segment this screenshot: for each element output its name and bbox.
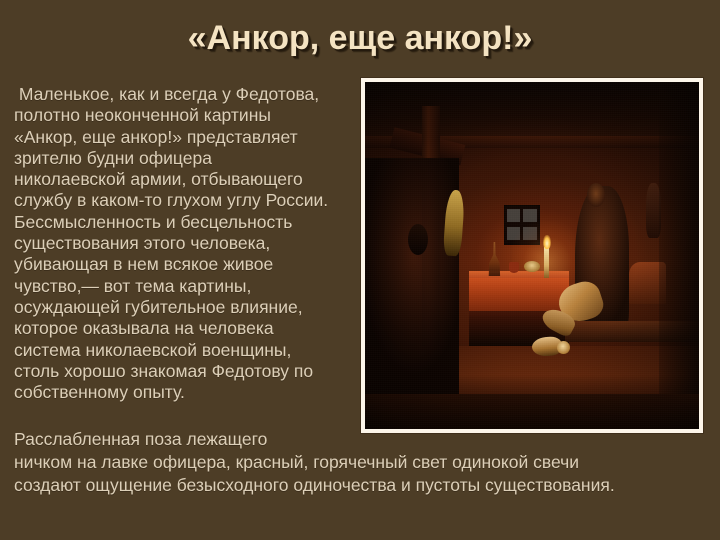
painting-grain-texture (365, 82, 699, 429)
anchor-once-more-painting (365, 82, 699, 429)
slide: «Анкор, еще анкор!» Маленькое, как и все… (0, 0, 720, 540)
painting-frame (361, 78, 703, 433)
page-title: «Анкор, еще анкор!» (0, 18, 720, 58)
description-paragraph-bottom: Расслабленная поза лежащего ничком на ла… (14, 428, 714, 497)
description-paragraph-left: Маленькое, как и всегда у Федотова, поло… (14, 84, 362, 403)
